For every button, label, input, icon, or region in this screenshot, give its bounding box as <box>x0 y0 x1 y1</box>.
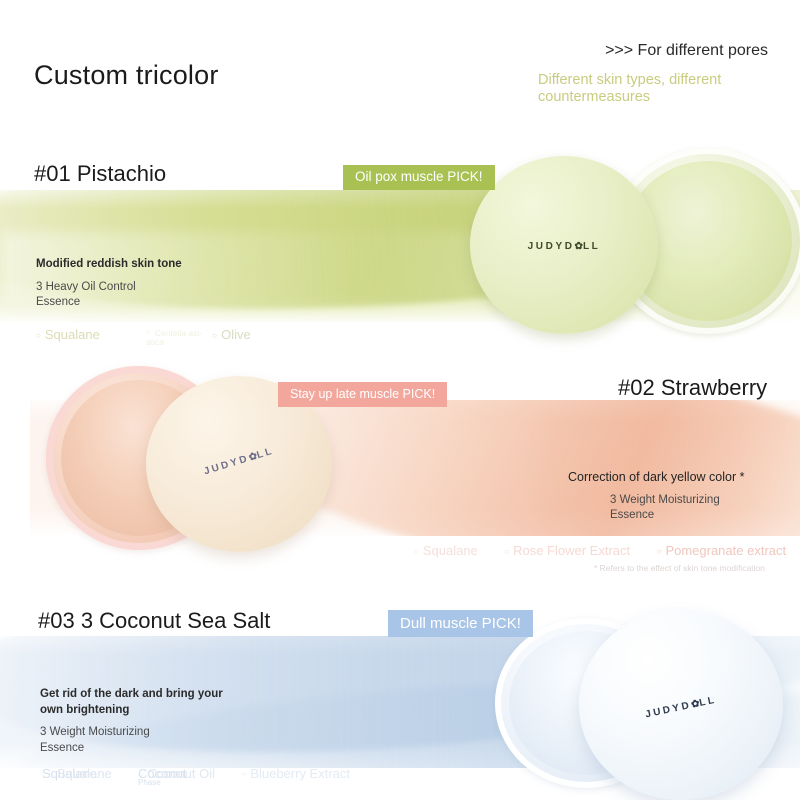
brand-logo: JUDYD✿LL <box>470 241 658 252</box>
badge-coconut: Dull muscle PICK! <box>388 610 533 637</box>
ingredient-item: Pomegranate extract <box>657 543 787 558</box>
ingredient-row-02: Squalane Rose Flower Extract Pomegranate… <box>414 543 786 561</box>
product-jar-coconut: JUDYD✿LL <box>495 608 800 800</box>
ingredient-item: Olive <box>212 327 250 342</box>
footnote-02: * Refers to the effect of skin tone modi… <box>594 563 765 573</box>
ingredient-row-03: Squalane Coconut Oil Blueberry Extract <box>48 766 350 784</box>
ingredient-row-01: Squalane Centella asi-atica Olive <box>36 327 336 345</box>
lead-text-03: Get rid of the dark and bring your own b… <box>40 687 290 718</box>
sub-text-02: 3 Weight Moisturizing Essence <box>568 493 800 524</box>
badge-pistachio: Oil pox muscle PICK! <box>343 165 495 190</box>
copy-block-03: Get rid of the dark and bring your own b… <box>40 687 290 756</box>
lead-text-01: Modified reddish skin tone <box>36 257 266 273</box>
brand-logo: JUDYD✿LL <box>580 681 782 734</box>
ingredient-item: Centella asi-atica <box>146 329 208 347</box>
ingredient-item: Coconut Oil <box>138 766 215 781</box>
badge-strawberry: Stay up late muscle PICK! <box>278 382 447 407</box>
page-title: Custom tricolor <box>34 60 219 91</box>
sub-text-03: 3 Weight Moisturizing Essence <box>40 725 290 756</box>
ingredient-item: Squalane <box>36 327 100 342</box>
ingredient-item: Blueberry Extract <box>241 766 350 781</box>
header-kicker: >>> For different pores <box>605 42 768 60</box>
lead-text-02: Correction of dark yellow color * <box>568 469 800 486</box>
section-title-02: #02 Strawberry <box>618 375 767 401</box>
section-title-01: #01 Pistachio <box>34 161 166 187</box>
flower-icon: ✿ <box>575 241 583 252</box>
header-subtitle: Different skin types, different counterm… <box>538 72 770 107</box>
copy-block-02: Correction of dark yellow color * 3 Weig… <box>568 469 800 524</box>
sub-text-01: 3 Heavy Oil Control Essence <box>36 280 266 311</box>
brand-logo: JUDYD✿LL <box>148 429 329 494</box>
product-jar-pistachio: JUDYD✿LL <box>460 140 800 350</box>
copy-block-01: Modified reddish skin tone 3 Heavy Oil C… <box>36 257 266 311</box>
jar-lid: JUDYD✿LL <box>579 610 783 800</box>
ingredient-item: Rose Flower Extract <box>504 543 630 558</box>
ingredient-item: Squalane <box>48 766 112 781</box>
product-poster: Custom tricolor >>> For different pores … <box>0 0 800 800</box>
ingredient-item: Squalane <box>414 543 478 558</box>
jar-lid: JUDYD✿LL <box>470 156 658 334</box>
section-title-03: #03 3 Coconut Sea Salt <box>38 608 270 634</box>
